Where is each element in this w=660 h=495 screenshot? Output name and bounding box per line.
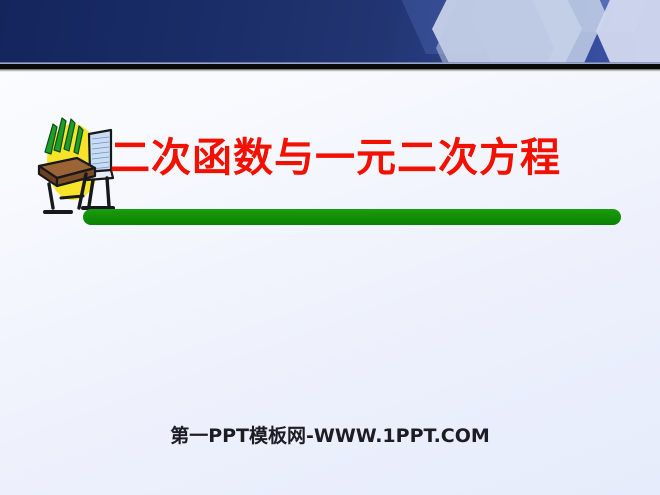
school-desk-chair-clipart (31, 108, 115, 220)
header-band (0, 0, 660, 63)
hexagon-shape-far-right (596, 0, 660, 63)
green-accent-bar (83, 209, 621, 225)
presentation-slide: 二次函数与一元二次方程 第一PPT模板网-WWW.1PPT.COM (0, 0, 660, 495)
footer-watermark: 第一PPT模板网-WWW.1PPT.COM (0, 421, 660, 448)
slide-title: 二次函数与一元二次方程 (110, 133, 640, 183)
hexagon-shape-overlay (436, 0, 554, 63)
divider-shadow (0, 69, 660, 72)
clipart-svg (31, 108, 115, 220)
